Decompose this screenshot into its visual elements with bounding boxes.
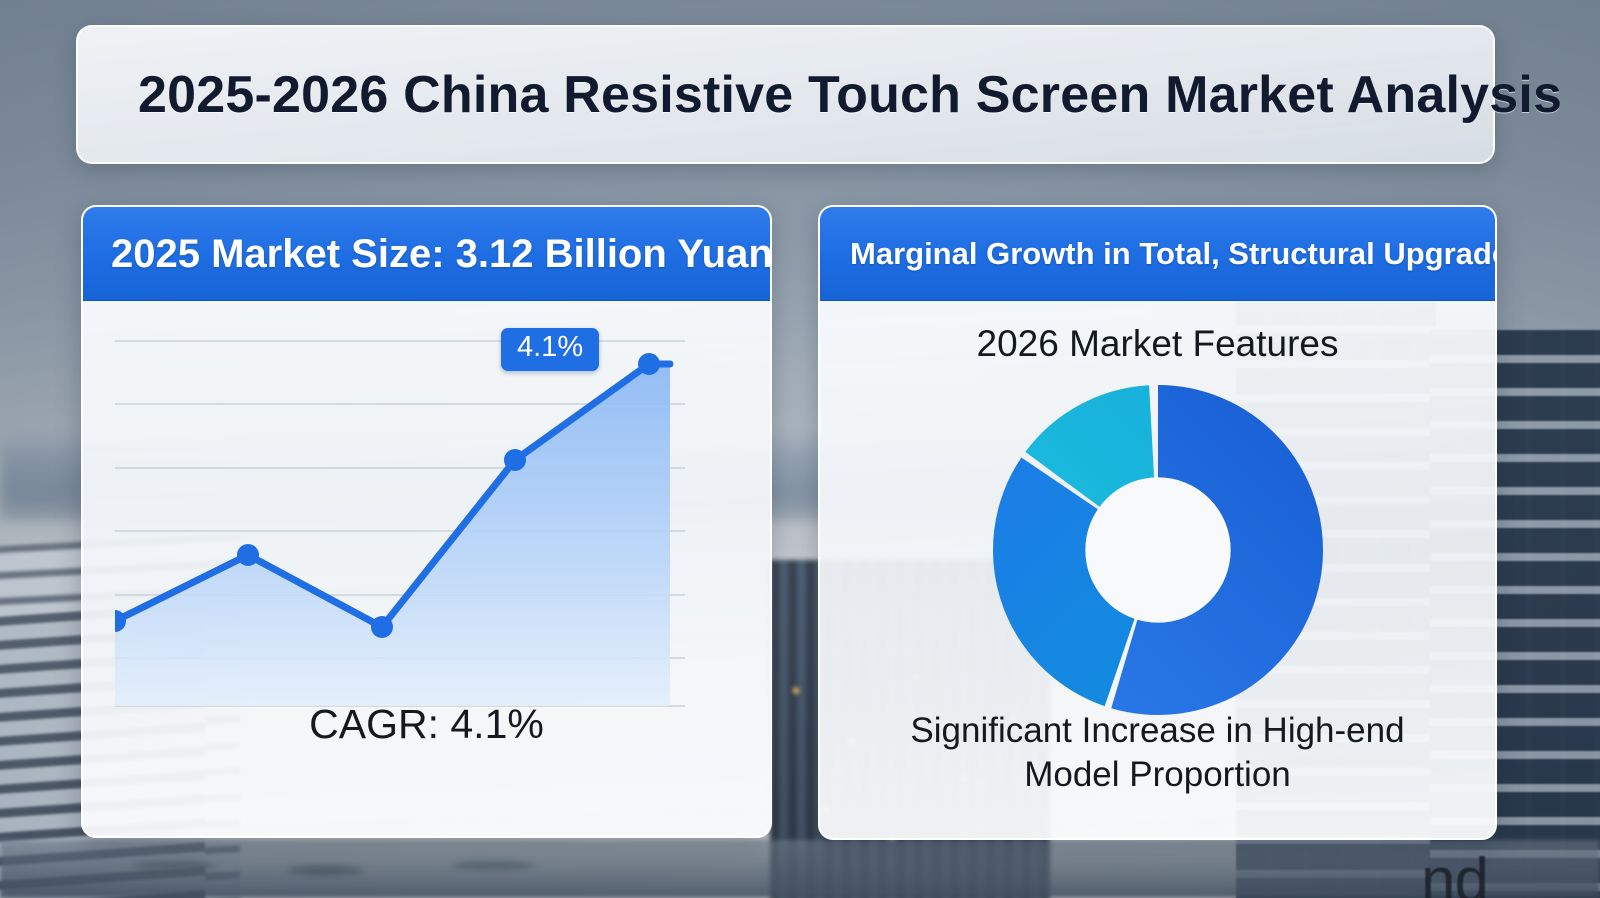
donut-chart (820, 385, 1495, 715)
infographic-canvas: nd 2025-2026 China Resistive Touch Scree… (0, 0, 1600, 898)
data-point[interactable] (504, 449, 526, 471)
line-chart-svg (115, 323, 715, 713)
page-title: 2025-2026 China Resistive Touch Screen M… (138, 65, 1562, 125)
market-features-card-header: Marginal Growth in Total, Structural Upg… (820, 207, 1495, 301)
donut-caption-line-1: Significant Increase in High-end (846, 709, 1469, 753)
growth-rate-badge: 4.1% (501, 328, 599, 371)
donut-center-hole (1085, 477, 1230, 622)
market-size-card: 2025 Market Size: 3.12 Billion Yuan (81, 205, 772, 838)
donut-chart-caption: Significant Increase in High-end Model P… (846, 709, 1469, 797)
market-features-card-body: 2026 Market Features (820, 301, 1495, 838)
market-size-header-label: 2025 Market Size: 3.12 Billion Yuan (83, 232, 772, 277)
market-features-header-label: Marginal Growth in Total, Structural Upg… (820, 236, 1497, 272)
line-chart: 4.1% CAGR: 4.1% (83, 301, 770, 836)
market-size-card-header: 2025 Market Size: 3.12 Billion Yuan (83, 207, 770, 301)
data-point[interactable] (371, 616, 393, 638)
donut-chart-svg (993, 385, 1323, 715)
donut-chart-title: 2026 Market Features (820, 323, 1495, 365)
background-watermark-text: nd (1421, 845, 1488, 898)
market-features-card: Marginal Growth in Total, Structural Upg… (818, 205, 1497, 840)
data-point[interactable] (638, 353, 660, 375)
market-size-card-body: 4.1% CAGR: 4.1% (83, 301, 770, 836)
donut-caption-line-2: Model Proportion (846, 753, 1469, 797)
line-chart-area (115, 364, 670, 706)
cagr-label: CAGR: 4.1% (83, 701, 770, 748)
title-banner: 2025-2026 China Resistive Touch Screen M… (76, 25, 1495, 164)
data-point[interactable] (237, 544, 259, 566)
